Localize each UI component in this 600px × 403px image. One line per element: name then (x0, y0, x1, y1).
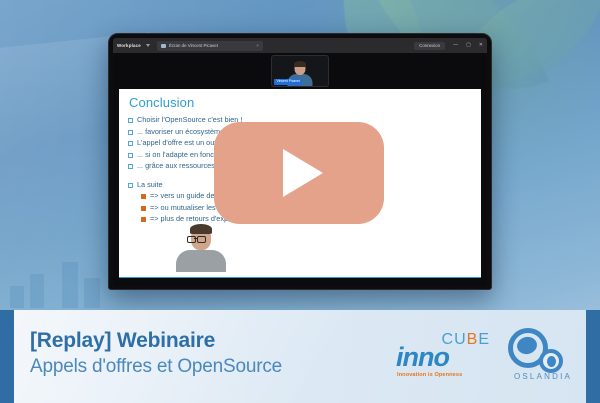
oslandia-small-dot-icon (547, 356, 556, 367)
cube-text-part2: B (467, 331, 479, 348)
cube-text-part3: E (478, 331, 490, 348)
bullet-square-filled-icon (141, 206, 146, 211)
banner-left-edge (0, 310, 14, 403)
participant-thumbnail[interactable]: Vincent Picavet (272, 56, 328, 86)
presenter-video-inset (175, 224, 227, 272)
banner-text-block: [Replay] Webinaire Appels d'offres et Op… (30, 328, 282, 379)
bullet-square-icon (128, 183, 133, 188)
participant-name-label: Vincent Picavet (274, 79, 302, 85)
conference-app-topbar: Workplace Écran de Vincent Picavet × Con… (113, 38, 487, 53)
slide-title: Conclusion (129, 95, 472, 110)
bullet-text: ... si on l'adapte en fonction (137, 149, 226, 161)
oslandia-wordmark: OSLANDIA (506, 372, 580, 381)
play-button[interactable] (214, 122, 384, 224)
app-name-label: Workplace (117, 43, 141, 48)
innocube-inno-wordmark: inno (396, 344, 449, 371)
bullet-text: Choisir l'OpenSource c'est bien ! (137, 114, 242, 126)
avatar-hair (294, 61, 306, 67)
tab-shared-screen[interactable]: Écran de Vincent Picavet × (157, 41, 263, 51)
minimize-icon[interactable]: — (453, 43, 458, 48)
maximize-icon[interactable]: ▢ (466, 43, 471, 48)
bullet-square-icon (128, 141, 133, 146)
connection-status-badge: Connexion (414, 42, 445, 50)
oslandia-logo: OSLANDIA (506, 328, 580, 384)
bullet-square-icon (128, 118, 133, 123)
close-icon[interactable]: × (256, 43, 259, 48)
next-heading-text: La suite (137, 179, 163, 191)
innocube-tagline: Innovation is Openness (397, 372, 462, 378)
play-icon (283, 149, 323, 197)
presenter-body (176, 250, 226, 272)
innocube-logo: CUBE inno Innovation is Openness (396, 332, 492, 384)
slide-accent-bar (119, 277, 481, 279)
bullet-square-icon (128, 153, 133, 158)
glasses-icon (197, 236, 206, 243)
screen-share-icon (161, 44, 166, 48)
chevron-down-icon[interactable] (146, 44, 150, 47)
bullet-square-filled-icon (141, 217, 146, 222)
presenter-hair (190, 224, 212, 234)
tab-label: Écran de Vincent Picavet (169, 43, 253, 48)
poster-stage: Workplace Écran de Vincent Picavet × Con… (0, 0, 600, 403)
close-window-icon[interactable]: ✕ (479, 43, 483, 48)
bullet-square-icon (128, 164, 133, 169)
bullet-square-filled-icon (141, 194, 146, 199)
banner-right-edge (586, 310, 600, 403)
banner-subtitle: Appels d'offres et OpenSource (30, 355, 282, 379)
bullet-square-icon (128, 130, 133, 135)
banner-title: [Replay] Webinaire (30, 328, 282, 353)
window-controls: — ▢ ✕ (453, 43, 483, 48)
glasses-bridge (194, 238, 197, 239)
